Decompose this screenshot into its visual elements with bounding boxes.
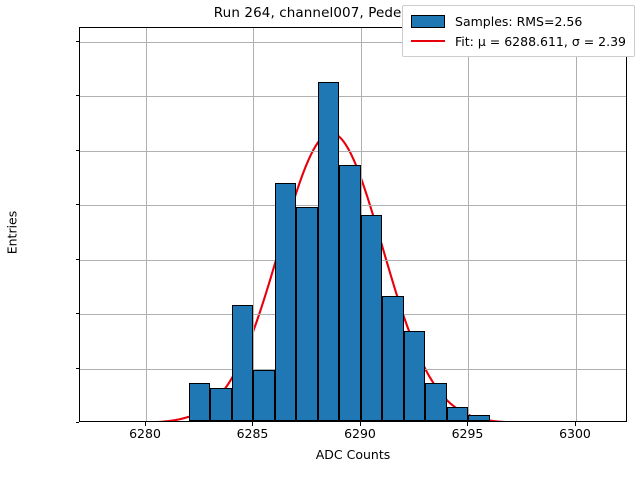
histogram-bar <box>253 370 274 421</box>
histogram-bar <box>189 383 210 421</box>
legend-label-samples: Samples: RMS=2.56 <box>455 14 582 29</box>
histogram-bar <box>447 407 468 421</box>
x-tick-mark <box>252 422 253 426</box>
x-gridline <box>468 28 469 421</box>
histogram-bar <box>425 383 446 421</box>
x-gridline <box>146 28 147 421</box>
y-gridline <box>80 151 626 152</box>
y-tick-mark <box>76 368 80 369</box>
x-axis-label: ADC Counts <box>79 447 627 462</box>
x-tick-label: 6285 <box>237 426 269 441</box>
legend-entry-fit: Fit: μ = 6288.611, σ = 2.39 <box>410 31 626 51</box>
legend-label-fit: Fit: μ = 6288.611, σ = 2.39 <box>455 34 626 49</box>
x-tick-mark <box>575 422 576 426</box>
plot-area <box>79 27 627 422</box>
x-tick-label: 6295 <box>452 426 484 441</box>
x-tick-label: 6290 <box>344 426 376 441</box>
histogram-bar <box>404 331 425 421</box>
legend-patch-icon <box>410 14 446 28</box>
y-tick-mark <box>76 41 80 42</box>
histogram-bar <box>296 207 317 421</box>
chart-legend: Samples: RMS=2.56 Fit: μ = 6288.611, σ =… <box>402 5 635 57</box>
x-tick-mark <box>360 422 361 426</box>
y-gridline <box>80 96 626 97</box>
x-tick-mark <box>145 422 146 426</box>
legend-line-icon <box>410 34 446 48</box>
histogram-bar <box>210 388 231 421</box>
histogram-bar <box>318 82 339 421</box>
y-tick-mark <box>76 95 80 96</box>
x-tick-label: 6300 <box>559 426 591 441</box>
legend-entry-samples: Samples: RMS=2.56 <box>410 11 626 31</box>
y-axis-label: Entries <box>5 153 20 313</box>
histogram-bar <box>382 296 403 421</box>
x-tick-mark <box>467 422 468 426</box>
y-tick-mark <box>76 204 80 205</box>
y-tick-mark <box>76 150 80 151</box>
figure-canvas: Run 264, channel007, Pedestal Entries AD… <box>0 0 640 480</box>
x-gridline <box>253 28 254 421</box>
y-tick-mark <box>76 259 80 260</box>
histogram-bar <box>232 305 253 421</box>
y-tick-mark <box>76 313 80 314</box>
histogram-bar <box>275 183 296 421</box>
y-tick-mark <box>76 422 80 423</box>
x-tick-label: 6280 <box>129 426 161 441</box>
histogram-bar <box>339 165 360 421</box>
x-gridline <box>576 28 577 421</box>
histogram-bar <box>468 415 489 421</box>
histogram-bar <box>361 215 382 421</box>
